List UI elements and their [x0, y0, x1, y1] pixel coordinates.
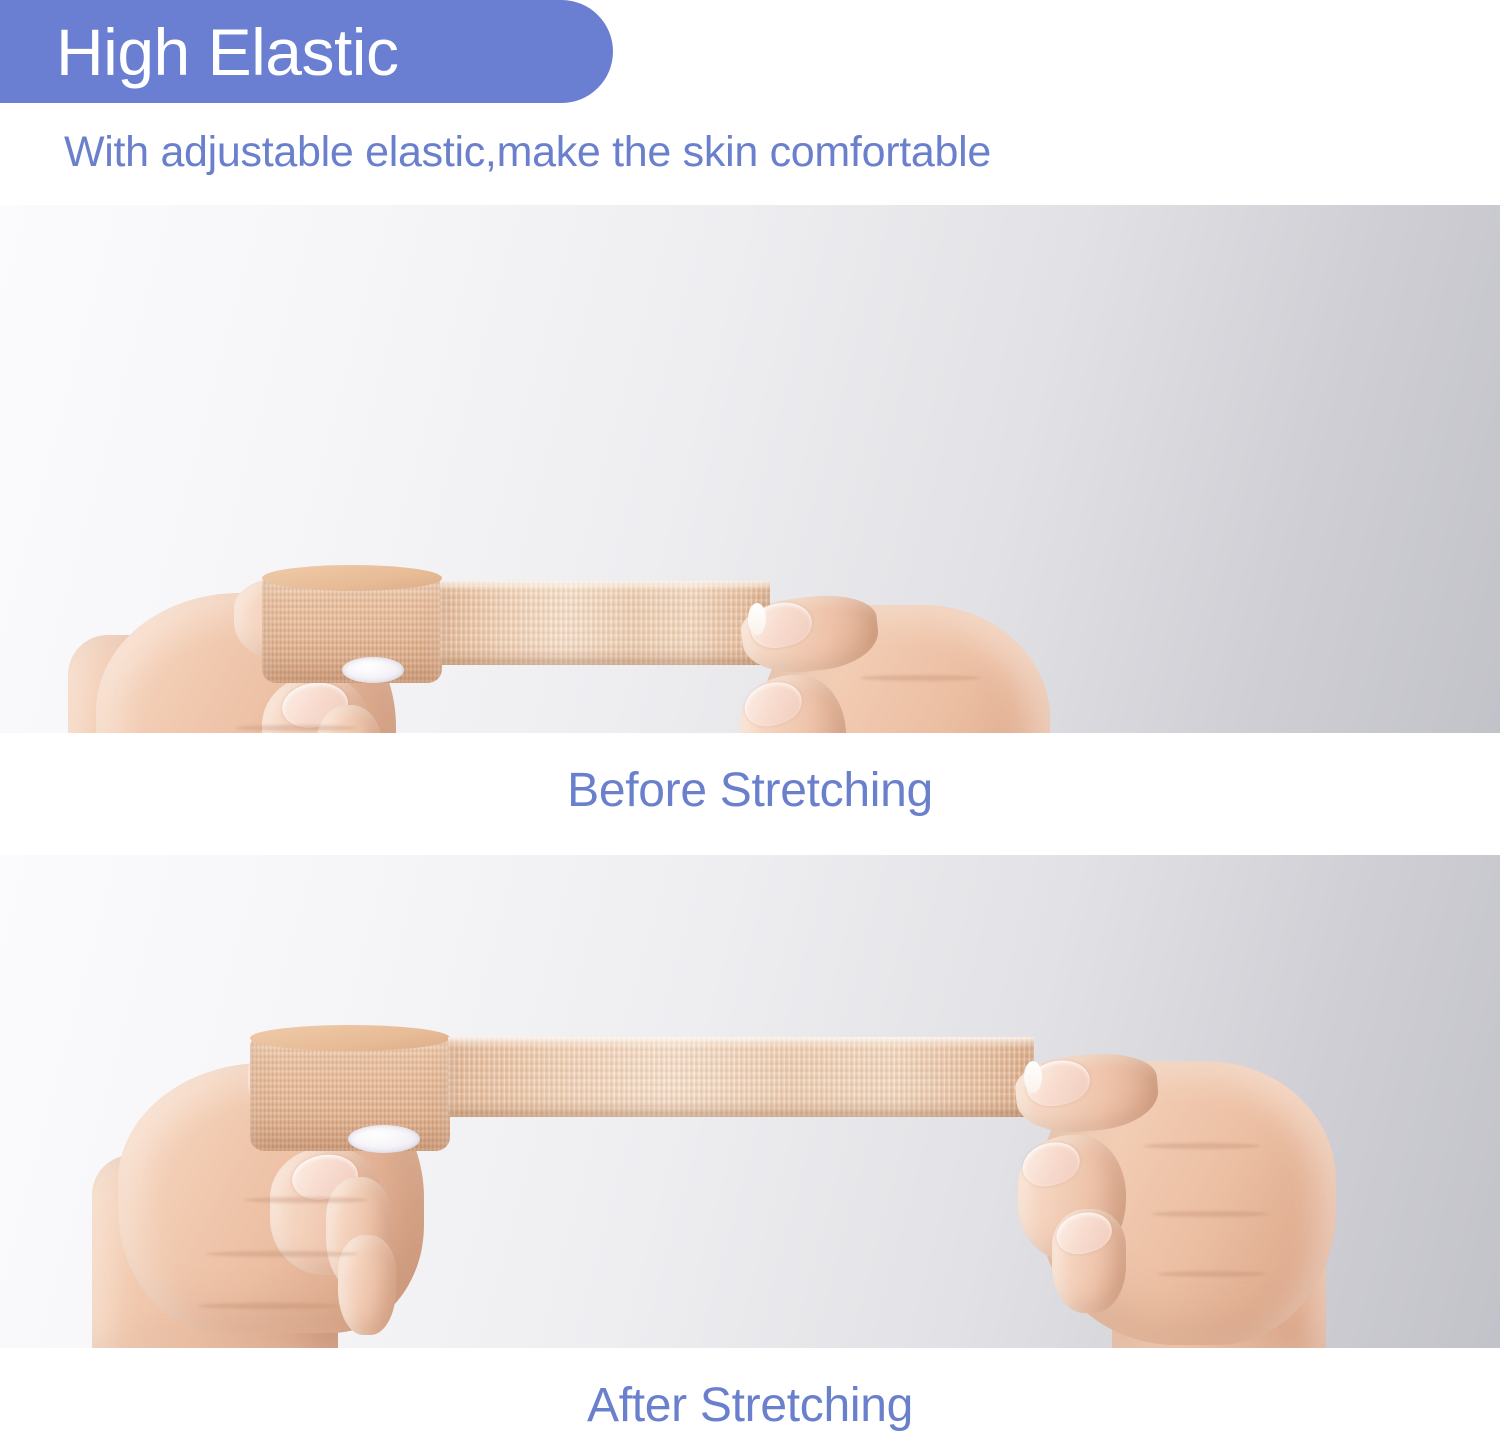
header: High Elastic With adjustable elastic,mak… — [0, 0, 1500, 205]
right-index-nail-tip — [1024, 1061, 1042, 1093]
left-hand-crease-2 — [206, 1251, 358, 1257]
photo-panel-after-stretching — [0, 855, 1500, 1348]
left-hand-crease-1 — [244, 1197, 368, 1203]
bandage-roll-core — [342, 657, 404, 683]
right-hand-crease-1 — [1144, 1143, 1260, 1149]
right-hand-crease-1 — [860, 675, 980, 681]
left-hand-crease-1 — [236, 725, 356, 731]
bandage-roll-top-surface — [250, 1025, 450, 1051]
caption-after-stretching: After Stretching — [0, 1382, 1500, 1430]
photo-before-stretching — [0, 205, 1500, 733]
left-ring-finger — [338, 1235, 396, 1335]
bandage-roll-core — [348, 1125, 420, 1153]
bandage-strip-top-edge — [440, 581, 770, 590]
bandage-roll-top-surface — [262, 565, 442, 591]
subtitle-text: With adjustable elastic,make the skin co… — [64, 131, 991, 174]
right-hand-crease-3 — [1158, 1271, 1266, 1277]
caption-before-stretching: Before Stretching — [0, 767, 1500, 815]
bandage-strip-bottom-edge — [440, 653, 770, 665]
right-index-nail-tip — [748, 603, 766, 635]
bandage-strip-top-edge — [448, 1037, 1034, 1046]
bandage-strip-bottom-edge — [448, 1105, 1034, 1117]
title-badge: High Elastic — [0, 0, 613, 103]
page-title: High Elastic — [56, 19, 398, 85]
left-hand-crease-3 — [198, 1303, 338, 1309]
photo-after-stretching — [0, 855, 1500, 1348]
right-hand-crease-2 — [1152, 1211, 1268, 1217]
photo-panel-before-stretching — [0, 205, 1500, 733]
